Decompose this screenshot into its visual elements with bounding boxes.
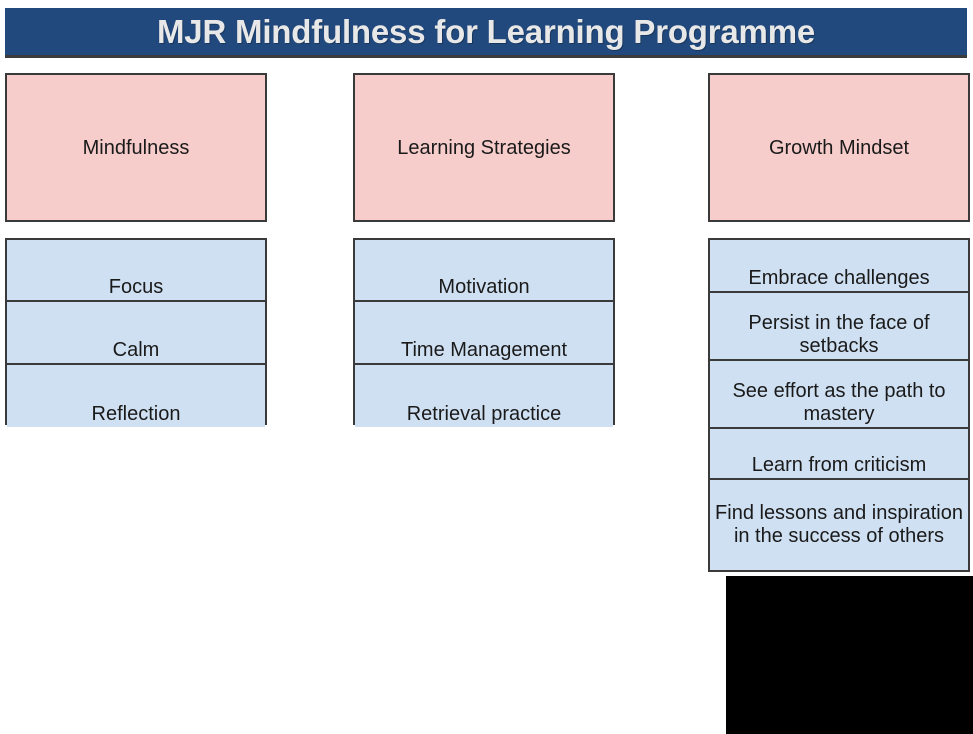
list-item-label: Reflection (92, 403, 181, 426)
list-item-label: See effort as the path to mastery (714, 380, 964, 426)
list-item: Focus (7, 240, 265, 302)
column-header-label: Mindfulness (83, 136, 190, 160)
item-list-growth-mindset: Embrace challenges Persist in the face o… (708, 238, 970, 572)
programme-title-banner: MJR Mindfulness for Learning Programme (5, 8, 967, 58)
column-learning-strategies: Learning Strategies Motivation Time Mana… (353, 73, 615, 425)
list-item: Time Management (355, 302, 613, 364)
list-item: See effort as the path to mastery (710, 361, 968, 429)
list-item-label: Retrieval practice (407, 403, 562, 426)
list-item-label: Learn from criticism (752, 454, 926, 477)
column-header-label: Growth Mindset (769, 136, 909, 160)
list-item-label: Persist in the face of setbacks (714, 312, 964, 358)
list-item: Calm (7, 302, 265, 364)
column-header-growth-mindset: Growth Mindset (708, 73, 970, 222)
list-item: Find lessons and inspiration in the succ… (710, 480, 968, 570)
page-title: MJR Mindfulness for Learning Programme (157, 13, 815, 51)
list-item: Embrace challenges (710, 240, 968, 293)
list-item-label: Focus (109, 276, 163, 299)
item-list-mindfulness: Focus Calm Reflection (5, 238, 267, 425)
list-item-label: Calm (113, 339, 160, 362)
column-mindfulness: Mindfulness Focus Calm Reflection (5, 73, 267, 425)
list-item: Reflection (7, 365, 265, 427)
item-list-learning-strategies: Motivation Time Management Retrieval pra… (353, 238, 615, 425)
black-redaction-block (726, 576, 973, 734)
list-item: Motivation (355, 240, 613, 302)
column-header-label: Learning Strategies (397, 136, 570, 160)
column-growth-mindset: Growth Mindset Embrace challenges Persis… (708, 73, 970, 572)
column-header-learning-strategies: Learning Strategies (353, 73, 615, 222)
list-item-label: Time Management (401, 339, 567, 362)
list-item-label: Embrace challenges (748, 267, 929, 290)
list-item: Learn from criticism (710, 429, 968, 480)
list-item: Persist in the face of setbacks (710, 293, 968, 361)
list-item: Retrieval practice (355, 365, 613, 427)
list-item-label: Find lessons and inspiration in the succ… (714, 502, 964, 548)
list-item-label: Motivation (438, 276, 529, 299)
column-header-mindfulness: Mindfulness (5, 73, 267, 222)
